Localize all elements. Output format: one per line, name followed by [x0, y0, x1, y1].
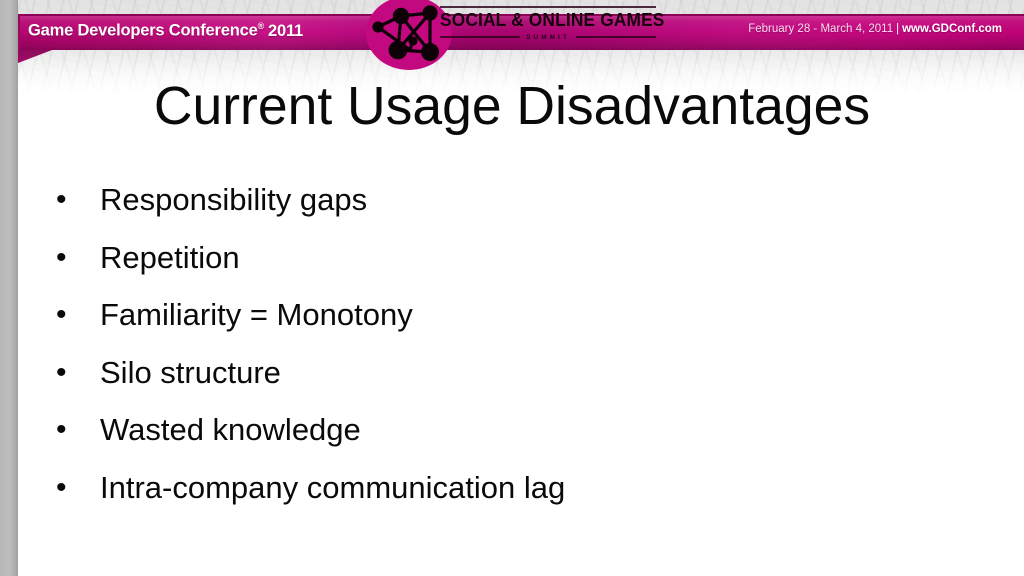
conference-name-label: Game Developers Conference®2011: [28, 21, 303, 41]
bullet-list: • Responsibility gaps • Repetition • Fam…: [56, 180, 956, 525]
conference-dates-text: February 28 - March 4, 2011: [748, 23, 893, 35]
conference-url-link[interactable]: www.GDConf.com: [902, 23, 1002, 35]
summit-rule-right: [576, 36, 656, 38]
page-title: Current Usage Disadvantages: [5, 78, 1019, 135]
summit-rule-top: [440, 6, 656, 8]
slide-canvas: Game Developers Conference®2011: [0, 0, 1024, 576]
banner-dates-url: February 28 - March 4, 2011|www.GDConf.c…: [748, 23, 1002, 35]
summit-rule-left: [440, 36, 520, 38]
list-item: • Familiarity = Monotony: [56, 295, 956, 353]
list-item: • Silo structure: [56, 353, 956, 411]
bullet-marker: •: [56, 295, 100, 335]
left-margin-strip: [0, 0, 18, 576]
list-item: • Responsibility gaps: [56, 180, 956, 238]
list-item: • Wasted knowledge: [56, 410, 956, 468]
list-item: • Repetition: [56, 238, 956, 296]
list-item: • Intra-company communication lag: [56, 468, 956, 526]
registered-trademark-icon: ®: [258, 21, 264, 31]
summit-logo: SOCIAL & ONLINE GAMES SUMMIT: [366, 0, 656, 70]
bullet-text: Intra-company communication lag: [100, 468, 956, 508]
bullet-marker: •: [56, 353, 100, 393]
bullet-marker: •: [56, 180, 100, 220]
summit-main-text: SOCIAL & ONLINE GAMES: [440, 10, 647, 31]
bullet-marker: •: [56, 238, 100, 278]
bullet-text: Wasted knowledge: [100, 410, 956, 450]
bullet-text: Familiarity = Monotony: [100, 295, 956, 335]
conference-banner: Game Developers Conference®2011: [0, 0, 1024, 66]
bullet-marker: •: [56, 468, 100, 508]
summit-sub-row: SUMMIT: [440, 32, 656, 42]
bullet-text: Repetition: [100, 238, 956, 278]
conference-name-text: Game Developers Conference: [28, 22, 258, 40]
bullet-text: Silo structure: [100, 353, 956, 393]
summit-sub-text: SUMMIT: [520, 34, 576, 41]
bullet-text: Responsibility gaps: [100, 180, 956, 220]
ribbon-fold-tab: [18, 50, 52, 63]
bullet-marker: •: [56, 410, 100, 450]
conference-year-text: 2011: [268, 22, 303, 40]
banner-separator: |: [896, 23, 899, 35]
